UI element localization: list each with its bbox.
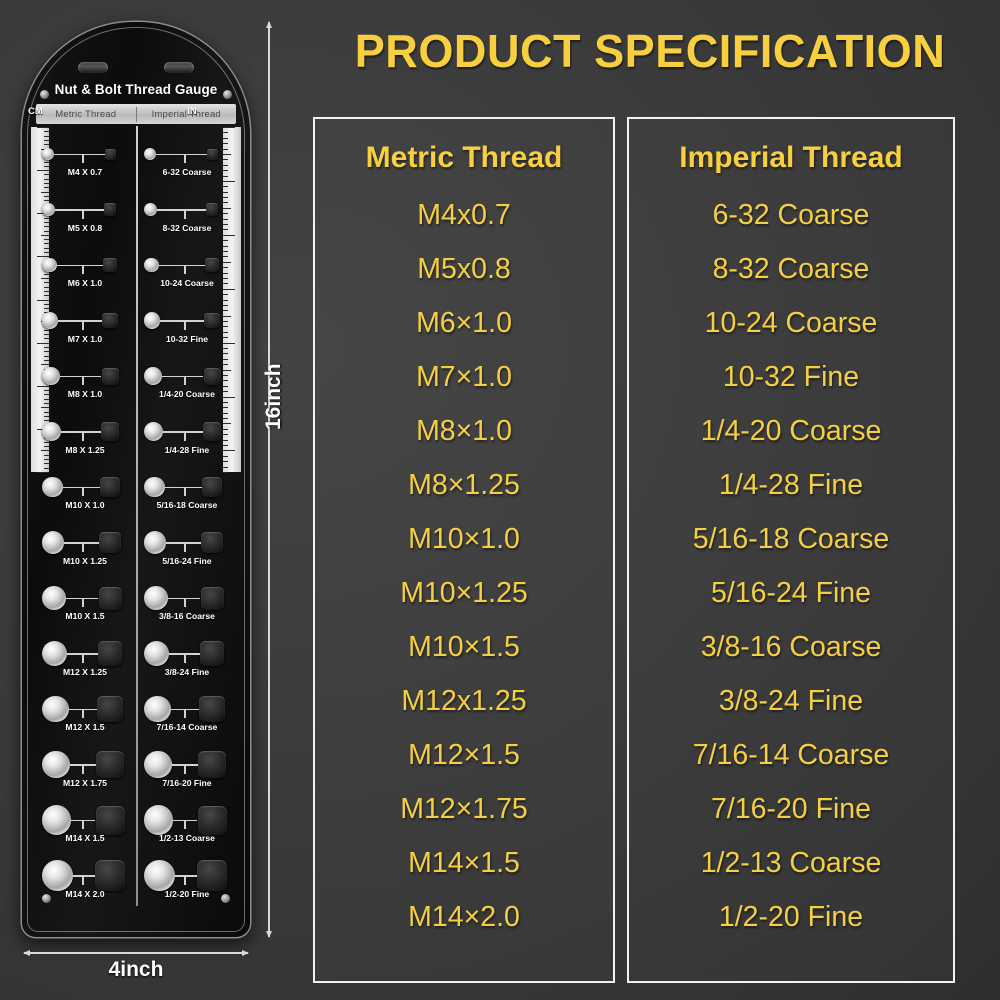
bolt-hole xyxy=(42,148,54,160)
bolt-hole xyxy=(144,586,168,610)
ruler-tick xyxy=(223,305,228,306)
gauge-size-label: M6 X 1.0 xyxy=(42,278,128,288)
bolt-hole xyxy=(42,203,55,216)
ruler-tick xyxy=(37,300,49,301)
ruler-tick xyxy=(44,412,49,413)
list-item: M7×1.0 xyxy=(315,350,613,404)
ruler-tick xyxy=(223,154,231,155)
ruler-tick xyxy=(223,300,228,301)
connector-tick xyxy=(184,487,186,496)
bolt-hole xyxy=(144,203,157,216)
connector-tick xyxy=(184,654,186,663)
list-item: 7/16-20 Fine xyxy=(629,782,953,836)
ruler-tick xyxy=(44,144,49,145)
list-item: M5x0.8 xyxy=(315,242,613,296)
list-item: M10×1.0 xyxy=(315,512,613,566)
ruler-tick xyxy=(223,326,228,327)
bolt-hole xyxy=(42,477,63,498)
ruler-tick xyxy=(44,239,49,240)
gauge-size-label: 3/8-16 Coarse xyxy=(144,611,230,621)
ruler-tick xyxy=(44,455,49,456)
gauge-size-label: 1/2-20 Fine xyxy=(144,889,230,899)
nut-hole xyxy=(95,860,126,891)
gauge-size-label: 5/16-24 Fine xyxy=(144,556,230,566)
list-item: 3/8-24 Fine xyxy=(629,674,953,728)
connector-tick xyxy=(184,265,186,274)
connector-tick xyxy=(82,654,84,663)
bolt-hole xyxy=(42,531,64,553)
connector-line xyxy=(163,431,203,433)
gauge-size-label: M8 X 1.25 xyxy=(42,445,128,455)
gauge-size-label: 6-32 Coarse xyxy=(144,167,230,177)
panel-heading-imperial: Imperial Thread xyxy=(629,141,953,175)
column-divider xyxy=(136,126,138,906)
ruler-tick xyxy=(44,252,49,253)
connector-tick xyxy=(184,598,186,607)
ruler-tick xyxy=(223,208,231,209)
hanging-slot-left xyxy=(78,62,108,73)
ruler-tick xyxy=(223,246,228,247)
gauge-size-label: M10 X 1.0 xyxy=(42,500,128,510)
ruler-tick xyxy=(223,407,228,408)
ruler-tick xyxy=(44,295,49,296)
nut-hole xyxy=(204,368,221,385)
gauge-size-label: 10-32 Fine xyxy=(144,334,230,344)
ruler-in xyxy=(223,127,241,472)
ruler-tick xyxy=(223,273,228,274)
list-item: M12×1.5 xyxy=(315,728,613,782)
ruler-tick xyxy=(37,386,49,387)
ruler-unit-cm: CM xyxy=(28,108,38,117)
ruler-tick xyxy=(37,127,49,128)
ruler-tick xyxy=(44,403,49,404)
width-dimension-line xyxy=(24,952,248,954)
ruler-tick xyxy=(223,197,228,198)
list-item: M10×1.25 xyxy=(315,566,613,620)
connector-line xyxy=(156,154,207,156)
ruler-tick xyxy=(44,162,49,163)
connector-tick xyxy=(184,709,186,718)
bolt-hole xyxy=(42,258,57,273)
ruler-tick xyxy=(223,375,228,376)
nut-hole xyxy=(100,477,120,497)
ruler-tick xyxy=(223,165,228,166)
list-item: 8-32 Coarse xyxy=(629,242,953,296)
nut-hole xyxy=(102,313,118,329)
ruler-tick xyxy=(44,274,49,275)
bolt-hole xyxy=(144,258,159,273)
connector-tick xyxy=(82,543,84,552)
connector-line xyxy=(160,320,204,322)
ruler-tick xyxy=(44,416,49,417)
ruler-tick xyxy=(223,256,228,257)
nut-hole xyxy=(204,313,220,329)
ruler-tick xyxy=(223,359,228,360)
connector-tick xyxy=(184,765,186,774)
nut-hole xyxy=(105,149,116,160)
ruler-tick xyxy=(223,159,228,160)
ruler-tick xyxy=(223,240,228,241)
connector-tick xyxy=(82,487,84,496)
ruler-tick xyxy=(37,472,49,473)
connector-tick xyxy=(82,432,84,441)
list-item: M4x0.7 xyxy=(315,188,613,242)
plate-header-metric: Metric Thread xyxy=(36,109,136,120)
page-title: PRODUCT SPECIFICATION xyxy=(307,24,993,78)
ruler-tick xyxy=(41,235,49,236)
nut-hole xyxy=(96,751,124,779)
gauge-size-label: 1/4-20 Coarse xyxy=(144,389,230,399)
ruler-tick xyxy=(44,200,49,201)
nut-hole xyxy=(197,860,228,891)
ruler-tick xyxy=(223,472,228,473)
plate-column-headers: Metric Thread Imperial Thread xyxy=(36,104,236,124)
bolt-hole xyxy=(144,148,156,160)
connector-line xyxy=(57,265,103,267)
connector-tick xyxy=(184,376,186,385)
connector-tick xyxy=(82,765,84,774)
gauge-size-label: 1/4-28 Fine xyxy=(144,445,230,455)
gauge-size-label: 10-24 Coarse xyxy=(144,278,230,288)
gauge-size-label: M12 X 1.25 xyxy=(42,667,128,677)
connector-tick xyxy=(82,820,84,829)
gauge-size-label: M5 X 0.8 xyxy=(42,223,128,233)
list-item: 5/16-18 Coarse xyxy=(629,512,953,566)
nut-hole xyxy=(199,696,225,722)
thread-gauge-plate: Nut & Bolt Thread Gauge Metric Thread Im… xyxy=(22,22,250,937)
ruler-tick xyxy=(44,304,49,305)
connector-line xyxy=(55,209,103,211)
nut-hole xyxy=(102,368,119,385)
bolt-hole xyxy=(144,805,173,834)
ruler-tick xyxy=(223,348,228,349)
ruler-tick xyxy=(44,218,49,219)
nut-hole xyxy=(99,587,122,610)
bolt-hole xyxy=(144,367,162,385)
bolt-hole xyxy=(144,312,160,328)
gauge-size-label: M12 X 1.5 xyxy=(42,722,128,732)
list-item: M6×1.0 xyxy=(315,296,613,350)
nut-hole xyxy=(198,751,226,779)
bolt-hole xyxy=(42,641,67,666)
gauge-size-label: M14 X 1.5 xyxy=(42,833,128,843)
list-item: 1/2-20 Fine xyxy=(629,890,953,944)
bolt-hole xyxy=(42,586,66,610)
list-item: 1/4-28 Fine xyxy=(629,458,953,512)
connector-line xyxy=(54,154,105,156)
gauge-size-label: M14 X 2.0 xyxy=(42,889,128,899)
connector-line xyxy=(61,431,101,433)
nut-hole xyxy=(96,806,125,835)
connector-tick xyxy=(82,265,84,274)
list-item: M14×2.0 xyxy=(315,890,613,944)
ruler-tick xyxy=(223,380,228,381)
ruler-tick xyxy=(41,364,49,365)
nut-hole xyxy=(202,477,222,497)
ruler-tick xyxy=(44,459,49,460)
ruler-tick xyxy=(223,440,228,441)
connector-tick xyxy=(82,154,84,163)
metric-thread-list: M4x0.7M5x0.8M6×1.0M7×1.0M8×1.0M8×1.25M10… xyxy=(315,188,613,944)
nut-hole xyxy=(104,203,117,216)
nut-hole xyxy=(201,587,224,610)
gauge-size-label: M12 X 1.75 xyxy=(42,778,128,788)
ruler-tick xyxy=(223,402,228,403)
ruler-tick xyxy=(41,192,49,193)
list-item: 3/8-16 Coarse xyxy=(629,620,953,674)
bolt-hole xyxy=(42,422,61,441)
gauge-size-label: 8-32 Coarse xyxy=(144,223,230,233)
ruler-tick xyxy=(223,321,228,322)
ruler-tick xyxy=(44,463,49,464)
ruler-tick xyxy=(223,192,228,193)
ruler-tick xyxy=(44,360,49,361)
ruler-tick xyxy=(223,127,235,128)
connector-line xyxy=(60,376,102,378)
bolt-hole xyxy=(42,805,71,834)
connector-line xyxy=(157,209,205,211)
ruler-tick xyxy=(223,316,231,317)
bolt-hole xyxy=(42,367,60,385)
ruler-tick xyxy=(44,356,49,357)
ruler-tick xyxy=(223,186,228,187)
bolt-hole xyxy=(144,422,163,441)
bolt-hole xyxy=(42,312,58,328)
ruler-tick xyxy=(223,434,228,435)
list-item: M8×1.25 xyxy=(315,458,613,512)
bolt-hole xyxy=(42,751,70,779)
gauge-size-label: 7/16-14 Coarse xyxy=(144,722,230,732)
ruler-tick xyxy=(44,183,49,184)
connector-tick xyxy=(184,210,186,219)
ruler-tick xyxy=(223,353,228,354)
gauge-size-label: M10 X 1.5 xyxy=(42,611,128,621)
ruler-tick xyxy=(223,235,235,236)
ruler-tick xyxy=(44,196,49,197)
list-item: 1/4-20 Coarse xyxy=(629,404,953,458)
ruler-tick xyxy=(44,140,49,141)
height-dimension-line xyxy=(268,22,270,937)
nut-hole xyxy=(97,696,123,722)
list-item: 6-32 Coarse xyxy=(629,188,953,242)
height-dimension-label: 16inch xyxy=(262,363,286,430)
list-item: 5/16-24 Fine xyxy=(629,566,953,620)
ruler-tick xyxy=(223,262,231,263)
ruler-tick xyxy=(223,364,228,365)
ruler-cm xyxy=(31,127,49,472)
ruler-tick xyxy=(223,413,228,414)
connector-line xyxy=(58,320,102,322)
ruler-tick xyxy=(223,181,235,182)
bolt-hole xyxy=(144,860,175,891)
specification-section: PRODUCT SPECIFICATION Metric Thread M4x0… xyxy=(300,0,1000,1000)
bolt-hole xyxy=(144,641,169,666)
ruler-tick xyxy=(223,213,228,214)
bolt-hole xyxy=(42,696,69,723)
nut-hole xyxy=(200,641,225,666)
list-item: M12×1.75 xyxy=(315,782,613,836)
ruler-unit-in: IN xyxy=(187,108,197,117)
connector-tick xyxy=(184,321,186,330)
connector-tick xyxy=(184,543,186,552)
ruler-tick xyxy=(223,267,228,268)
ruler-tick xyxy=(223,149,228,150)
gauge-size-label: 1/2-13 Coarse xyxy=(144,833,230,843)
ruler-tick xyxy=(223,289,235,290)
nut-hole xyxy=(207,149,218,160)
list-item: 10-24 Coarse xyxy=(629,296,953,350)
connector-tick xyxy=(82,210,84,219)
list-item: M14×1.5 xyxy=(315,836,613,890)
ruler-tick xyxy=(223,429,228,430)
list-item: M10×1.5 xyxy=(315,620,613,674)
ruler-tick xyxy=(223,461,228,462)
list-item: 7/16-14 Coarse xyxy=(629,728,953,782)
ruler-tick xyxy=(44,243,49,244)
ruler-tick xyxy=(223,423,231,424)
ruler-tick xyxy=(223,370,231,371)
nut-hole xyxy=(98,641,123,666)
imperial-thread-list: 6-32 Coarse8-32 Coarse10-24 Coarse10-32 … xyxy=(629,188,953,944)
gauge-size-label: M10 X 1.25 xyxy=(42,556,128,566)
ruler-tick xyxy=(44,442,49,443)
ruler-tick xyxy=(223,202,228,203)
list-item: 10-32 Fine xyxy=(629,350,953,404)
bolt-hole xyxy=(144,751,172,779)
hanging-slot-right xyxy=(164,62,194,73)
connector-tick xyxy=(184,432,186,441)
panel-heading-metric: Metric Thread xyxy=(315,141,613,175)
ruler-tick xyxy=(223,132,228,133)
ruler-tick xyxy=(223,251,228,252)
nut-hole xyxy=(203,422,222,441)
gauge-size-label: 5/16-18 Coarse xyxy=(144,500,230,510)
nut-hole xyxy=(205,258,219,272)
nut-hole xyxy=(103,258,117,272)
gauge-size-label: M4 X 0.7 xyxy=(42,167,128,177)
gauge-size-label: 3/8-24 Fine xyxy=(144,667,230,677)
ruler-tick xyxy=(223,294,228,295)
connector-tick xyxy=(82,598,84,607)
ruler-tick xyxy=(223,418,228,419)
connector-line xyxy=(162,376,204,378)
connector-tick xyxy=(184,154,186,163)
nut-hole xyxy=(99,532,121,554)
plate-title: Nut & Bolt Thread Gauge xyxy=(22,82,250,97)
ruler-tick xyxy=(44,420,49,421)
ruler-tick xyxy=(44,468,49,469)
ruler-tick xyxy=(44,179,49,180)
ruler-tick xyxy=(44,330,49,331)
bolt-hole xyxy=(144,696,171,723)
bolt-hole xyxy=(144,477,165,498)
ruler-tick xyxy=(223,143,228,144)
ruler-tick xyxy=(223,386,228,387)
ruler-tick xyxy=(44,351,49,352)
connector-tick xyxy=(184,876,186,885)
panel-metric-thread: Metric Thread M4x0.7M5x0.8M6×1.0M7×1.0M8… xyxy=(313,117,615,983)
connector-tick xyxy=(184,820,186,829)
list-item: 1/2-13 Coarse xyxy=(629,836,953,890)
ruler-tick xyxy=(44,187,49,188)
connector-line xyxy=(73,875,95,877)
product-photo: Nut & Bolt Thread Gauge Metric Thread Im… xyxy=(0,0,300,1000)
panel-imperial-thread: Imperial Thread 6-32 Coarse8-32 Coarse10… xyxy=(627,117,955,983)
connector-line xyxy=(159,265,205,267)
list-item: M8×1.0 xyxy=(315,404,613,458)
gauge-size-label: M7 X 1.0 xyxy=(42,334,128,344)
ruler-tick xyxy=(44,347,49,348)
ruler-tick xyxy=(223,219,228,220)
ruler-tick xyxy=(41,407,49,408)
ruler-tick xyxy=(223,138,228,139)
gauge-size-label: M8 X 1.0 xyxy=(42,389,128,399)
connector-tick xyxy=(82,709,84,718)
connector-tick xyxy=(82,321,84,330)
width-dimension-label: 4inch xyxy=(24,958,248,982)
ruler-tick xyxy=(44,136,49,137)
ruler-tick xyxy=(223,456,228,457)
ruler-tick xyxy=(44,308,49,309)
ruler-tick xyxy=(223,310,228,311)
ruler-tick xyxy=(223,467,228,468)
bolt-hole xyxy=(42,860,73,891)
ruler-tick xyxy=(44,291,49,292)
nut-hole xyxy=(101,422,120,441)
connector-tick xyxy=(82,876,84,885)
gauge-size-label: 7/16-20 Fine xyxy=(144,778,230,788)
nut-hole xyxy=(201,532,223,554)
bolt-hole xyxy=(144,531,166,553)
nut-hole xyxy=(198,806,227,835)
connector-line xyxy=(175,875,197,877)
ruler-tick xyxy=(44,131,49,132)
list-item: M12x1.25 xyxy=(315,674,613,728)
nut-hole xyxy=(206,203,219,216)
connector-tick xyxy=(82,376,84,385)
ruler-tick xyxy=(44,248,49,249)
